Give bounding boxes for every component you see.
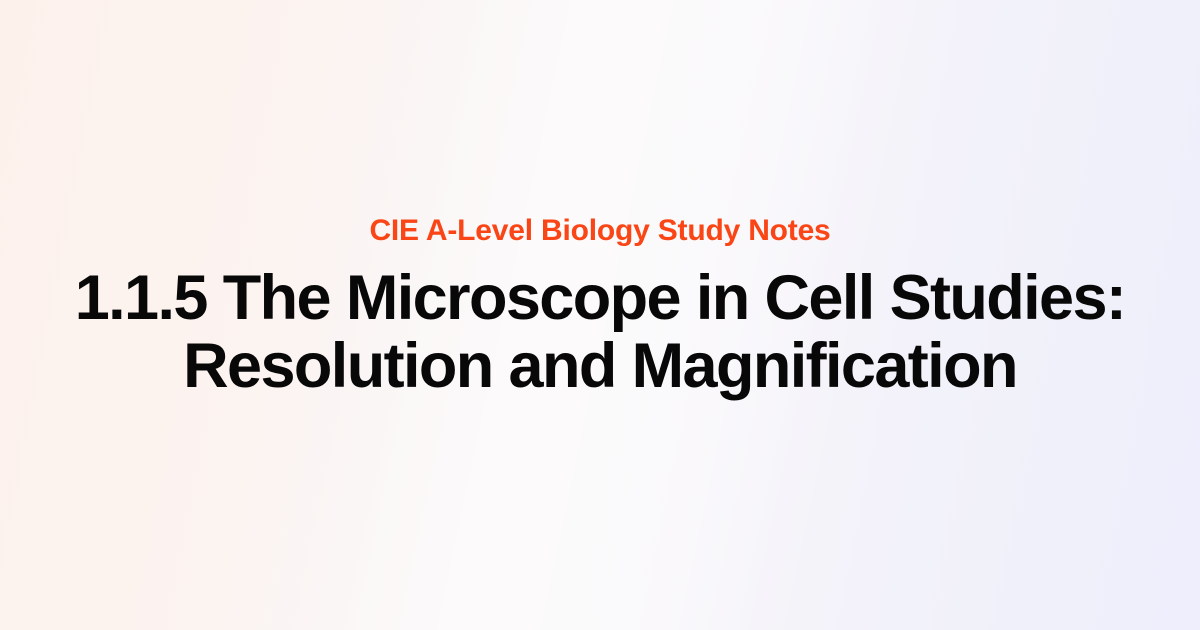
page-title-line-1: 1.1.5 The Microscope in Cell Studies: [40,264,1160,332]
page-title-line-2: Resolution and Magnification [40,332,1160,400]
page-title: 1.1.5 The Microscope in Cell Studies: Re… [40,264,1160,400]
course-eyebrow-label: CIE A-Level Biology Study Notes [40,214,1160,249]
cover-content: CIE A-Level Biology Study Notes 1.1.5 Th… [40,214,1160,401]
study-notes-cover-card: CIE A-Level Biology Study Notes 1.1.5 Th… [0,0,1200,630]
